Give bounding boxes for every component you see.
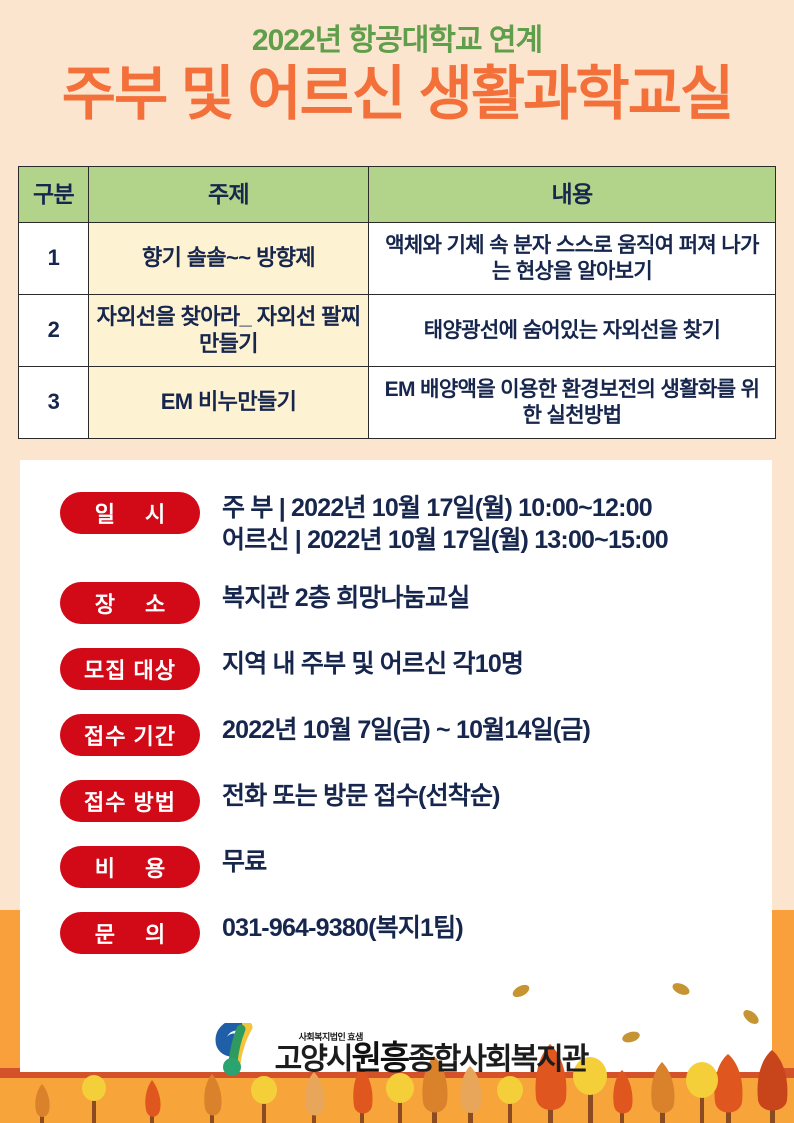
table-header-row: 구분 주제 내용 bbox=[19, 167, 776, 223]
program-table: 구분 주제 내용 1 향기 솔솔~~ 방향제 액체와 기체 속 분자 스스로 움… bbox=[18, 166, 776, 439]
info-value-method: 전화 또는 방문 접수(선착순) bbox=[222, 778, 760, 812]
info-badge-target: 모집 대상 bbox=[60, 648, 200, 690]
ground-fill bbox=[0, 1078, 794, 1123]
info-value-datetime: 주 부 | 2022년 10월 17일(월) 10:00~12:00 어르신 |… bbox=[222, 490, 760, 556]
info-list: 일 시 주 부 | 2022년 10월 17일(월) 10:00~12:00 어… bbox=[60, 490, 760, 976]
info-badge-period: 접수 기간 bbox=[60, 714, 200, 756]
info-line: 2022년 10월 7일(금) ~ 10월14일(금) bbox=[222, 714, 760, 746]
desc-line: 액체와 기체 속 분자 스스로 bbox=[385, 234, 612, 257]
topic-line: 자외선을 찾아라_ bbox=[97, 304, 252, 329]
info-badge-method: 접수 방법 bbox=[60, 780, 200, 822]
info-badge-cost: 비 용 bbox=[60, 846, 200, 888]
info-row-contact: 문 의 031-964-9380(복지1팀) bbox=[60, 910, 760, 954]
table-header-desc: 내용 bbox=[369, 167, 776, 223]
info-row-target: 모집 대상 지역 내 주부 및 어르신 각10명 bbox=[60, 646, 760, 690]
table-header-no: 구분 bbox=[19, 167, 89, 223]
info-value-cost: 무료 bbox=[222, 844, 760, 878]
table-row: 1 향기 솔솔~~ 방향제 액체와 기체 속 분자 스스로 움직여 퍼져 나가는… bbox=[19, 223, 776, 295]
table-cell-topic: 자외선을 찾아라_ 자외선 팔찌 만들기 bbox=[89, 295, 369, 367]
info-line: 무료 bbox=[222, 846, 760, 878]
table-cell-topic: 향기 솔솔~~ 방향제 bbox=[89, 223, 369, 295]
poster-root: 2022년 항공대학교 연계 주부 및 어르신 생활과학교실 구분 주제 내용 … bbox=[0, 0, 794, 1123]
info-line: 지역 내 주부 및 어르신 각10명 bbox=[222, 648, 760, 680]
logo-text: 사회복지법인 효샘 고양시원흥종합사회복지관 bbox=[275, 1030, 588, 1075]
table-cell-topic: EM 비누만들기 bbox=[89, 367, 369, 439]
logo-swirl-icon bbox=[207, 1023, 269, 1081]
info-badge-place: 장 소 bbox=[60, 582, 200, 624]
logo-part2: 종합사회복지관 bbox=[408, 1043, 587, 1076]
table-cell-no: 3 bbox=[19, 367, 89, 439]
info-line: 복지관 2층 희망나눔교실 bbox=[222, 582, 760, 614]
poster-title: 주부 및 어르신 생활과학교실 bbox=[0, 61, 794, 129]
info-row-period: 접수 기간 2022년 10월 7일(금) ~ 10월14일(금) bbox=[60, 712, 760, 756]
desc-line: 태양광선에 숨어있는 자외선을 찾기 bbox=[424, 319, 721, 342]
logo-accent: 원흥 bbox=[351, 1039, 408, 1076]
logo-maintext: 고양시원흥종합사회복지관 bbox=[275, 1041, 588, 1075]
info-value-contact: 031-964-9380(복지1팀) bbox=[222, 910, 760, 944]
info-line: 주 부 | 2022년 10월 17일(월) 10:00~12:00 bbox=[222, 492, 760, 524]
desc-line: EM 배양액을 이용한 환경보전의 bbox=[385, 378, 656, 401]
table-header-topic: 주제 bbox=[89, 167, 369, 223]
info-line: 어르신 | 2022년 10월 17일(월) 13:00~15:00 bbox=[222, 524, 760, 556]
info-row-place: 장 소 복지관 2층 희망나눔교실 bbox=[60, 580, 760, 624]
logo-part1: 고양시 bbox=[275, 1043, 352, 1076]
poster-header: 2022년 항공대학교 연계 주부 및 어르신 생활과학교실 bbox=[0, 24, 794, 129]
table-cell-desc: 액체와 기체 속 분자 스스로 움직여 퍼져 나가는 현상을 알아보기 bbox=[369, 223, 776, 295]
info-badge-contact: 문 의 bbox=[60, 912, 200, 954]
table-cell-no: 2 bbox=[19, 295, 89, 367]
info-row-method: 접수 방법 전화 또는 방문 접수(선착순) bbox=[60, 778, 760, 822]
info-line: 031-964-9380(복지1팀) bbox=[222, 912, 760, 944]
info-badge-datetime: 일 시 bbox=[60, 492, 200, 534]
table-cell-no: 1 bbox=[19, 223, 89, 295]
organization-logo: 사회복지법인 효샘 고양시원흥종합사회복지관 bbox=[0, 1023, 794, 1081]
info-line: 전화 또는 방문 접수(선착순) bbox=[222, 780, 760, 812]
info-value-target: 지역 내 주부 및 어르신 각10명 bbox=[222, 646, 760, 680]
table-row: 2 자외선을 찾아라_ 자외선 팔찌 만들기 태양광선에 숨어있는 자외선을 찾… bbox=[19, 295, 776, 367]
poster-subtitle: 2022년 항공대학교 연계 bbox=[0, 24, 794, 57]
info-row-cost: 비 용 무료 bbox=[60, 844, 760, 888]
info-value-place: 복지관 2층 희망나눔교실 bbox=[222, 580, 760, 614]
table-cell-desc: EM 배양액을 이용한 환경보전의 생활화를 위한 실천방법 bbox=[369, 367, 776, 439]
info-row-datetime: 일 시 주 부 | 2022년 10월 17일(월) 10:00~12:00 어… bbox=[60, 490, 760, 556]
info-value-period: 2022년 10월 7일(금) ~ 10월14일(금) bbox=[222, 712, 760, 746]
table-cell-desc: 태양광선에 숨어있는 자외선을 찾기 bbox=[369, 295, 776, 367]
table-row: 3 EM 비누만들기 EM 배양액을 이용한 환경보전의 생활화를 위한 실천방… bbox=[19, 367, 776, 439]
info-card: 일 시 주 부 | 2022년 10월 17일(월) 10:00~12:00 어… bbox=[20, 460, 772, 1072]
